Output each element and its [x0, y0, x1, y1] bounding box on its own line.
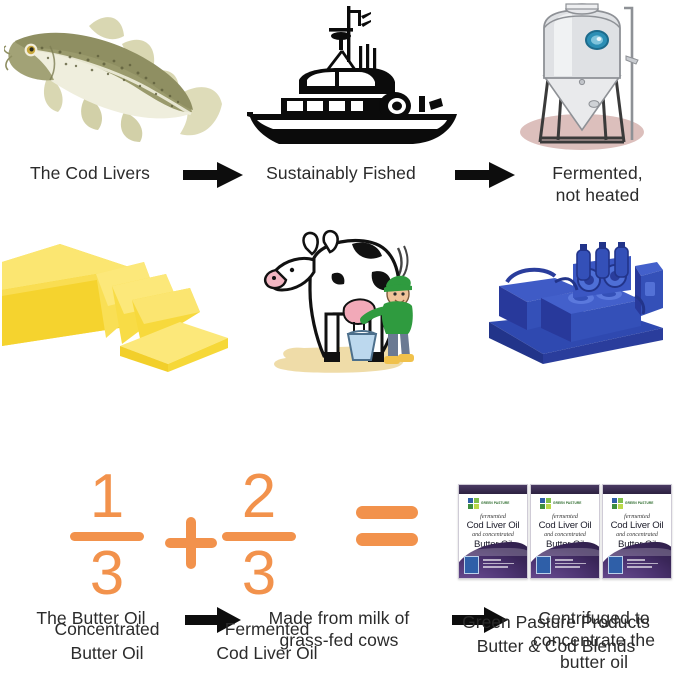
caption-concentrated-butter-oil: Concentrated Butter Oil — [12, 617, 202, 665]
box-line-and-concentrated: and concentrated — [603, 532, 671, 538]
box-cap — [603, 485, 671, 494]
fraction-one-third: 1 3 — [52, 470, 162, 601]
fraction-numerator: 2 — [204, 470, 314, 524]
cod-livers-row: The Cod Livers Sustainably Fished Fermen… — [0, 0, 679, 222]
box-seal — [536, 556, 551, 574]
fermentation-tank-illustration — [496, 0, 676, 152]
logo-grid-icon — [468, 498, 479, 509]
butter-oil-row: The Butter Oil Made from milk of grass-f… — [0, 222, 679, 454]
arrow-right-icon — [455, 162, 517, 188]
box-fine-print — [483, 559, 523, 573]
box-cap — [459, 485, 527, 494]
box-line-fermented: fermented — [459, 513, 527, 520]
product-box: GREEN PASTURE fermented Cod Liver Oil an… — [602, 484, 672, 579]
box-line-fermented: fermented — [531, 513, 599, 520]
box-fine-print — [555, 559, 595, 573]
box-line-cod-liver-oil: Cod Liver Oil — [459, 520, 527, 531]
product-process-infographic: The Cod Livers Sustainably Fished Fermen… — [0, 0, 679, 669]
green-pasture-logo: GREEN PASTURE — [540, 498, 582, 509]
logo-text: GREEN PASTURE — [553, 501, 582, 505]
logo-grid-icon — [540, 498, 551, 509]
box-line-fermented: fermented — [603, 513, 671, 520]
fraction-denominator: 3 — [204, 547, 314, 601]
product-boxes-group: GREEN PASTURE fermented Cod Liver Oil an… — [458, 484, 673, 582]
logo-text: GREEN PASTURE — [625, 501, 654, 505]
product-box: GREEN PASTURE fermented Cod Liver Oil an… — [530, 484, 600, 579]
green-pasture-logo: GREEN PASTURE — [468, 498, 510, 509]
step-label-cod-livers: The Cod Livers — [0, 162, 180, 184]
fraction-denominator: 3 — [52, 547, 162, 601]
box-seal — [608, 556, 623, 574]
cow-milking-illustration — [252, 226, 422, 376]
box-line-cod-liver-oil: Cod Liver Oil — [531, 520, 599, 531]
box-line-and-concentrated: and concentrated — [459, 532, 527, 538]
caption-green-pasture-products: Green Pasture Products Butter & Cod Blen… — [436, 610, 676, 658]
green-pasture-logo: GREEN PASTURE — [612, 498, 654, 509]
product-box: GREEN PASTURE fermented Cod Liver Oil an… — [458, 484, 528, 579]
equals-operator-icon — [356, 504, 418, 546]
logo-grid-icon — [612, 498, 623, 509]
fishing-boat-illustration — [243, 2, 469, 154]
fraction-two-thirds: 2 3 — [204, 470, 314, 601]
logo-text: GREEN PASTURE — [481, 501, 510, 505]
box-line-and-concentrated: and concentrated — [531, 532, 599, 538]
caption-fermented-cod-liver-oil: Fermented Cod Liver Oil — [182, 617, 352, 665]
box-line-cod-liver-oil: Cod Liver Oil — [603, 520, 671, 531]
butter-block-illustration — [0, 234, 232, 372]
cod-fish-illustration — [4, 8, 226, 156]
step-label-sustainably-fished: Sustainably Fished — [228, 162, 454, 184]
box-cap — [531, 485, 599, 494]
blend-equation-row: 1 3 2 3 GREEN PASTURE — [0, 462, 679, 669]
fraction-numerator: 1 — [52, 470, 162, 524]
box-seal — [464, 556, 479, 574]
centrifuge-machine-illustration — [485, 242, 667, 370]
box-fine-print — [627, 559, 667, 573]
step-label-fermented-not-heated: Fermented, not heated — [516, 162, 679, 206]
